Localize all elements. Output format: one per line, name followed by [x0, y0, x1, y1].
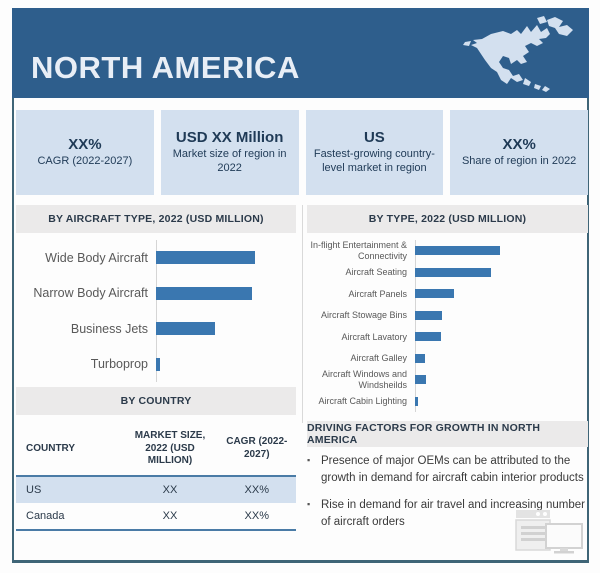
chart-bar-track	[415, 326, 588, 348]
chart-bar	[156, 358, 160, 371]
chart-bar	[415, 375, 426, 384]
chart-bar	[156, 322, 215, 335]
stat-value: XX%	[68, 136, 101, 153]
table-row: US XX XX%	[16, 476, 296, 503]
left-accent-rail	[12, 98, 14, 560]
chart-bar	[415, 332, 441, 341]
chart-by-type: In-flight Entertainment & Connectivity A…	[307, 240, 588, 412]
chart-bar-track	[415, 369, 588, 391]
chart-bar-track	[156, 311, 296, 347]
chart-category-label: Wide Body Aircraft	[16, 251, 156, 265]
section-header-driving-factors: DRIVING FACTORS FOR GROWTH IN NORTH AMER…	[307, 421, 588, 447]
chart-bar-track	[415, 305, 588, 327]
chart-row: In-flight Entertainment & Connectivity	[307, 240, 588, 262]
chart-category-label: Aircraft Galley	[307, 353, 415, 363]
chart-bar	[415, 397, 418, 406]
stat-value: US	[364, 129, 385, 146]
chart-row: Aircraft Cabin Lighting	[307, 391, 588, 413]
stat-value: USD XX Million	[176, 129, 284, 146]
chart-rows: Wide Body Aircraft Narrow Body Aircraft …	[16, 240, 296, 382]
cell-cagr: XX%	[218, 503, 296, 530]
chart-row: Wide Body Aircraft	[16, 240, 296, 276]
list-item: ▪ Presence of major OEMs can be attribut…	[307, 453, 588, 486]
chart-bar-track	[156, 240, 296, 276]
stat-label: CAGR (2022-2027)	[37, 155, 132, 169]
chart-category-label: Business Jets	[16, 322, 156, 336]
region-header: NORTH AMERICA	[12, 8, 589, 98]
chart-category-label: In-flight Entertainment & Connectivity	[307, 240, 415, 261]
monitor-window-icon	[512, 508, 588, 556]
chart-row: Narrow Body Aircraft	[16, 276, 296, 312]
chart-row: Business Jets	[16, 311, 296, 347]
chart-row: Turboprop	[16, 347, 296, 383]
chart-row: Aircraft Galley	[307, 348, 588, 370]
chart-row: Aircraft Lavatory	[307, 326, 588, 348]
column-header-country: COUNTRY	[16, 423, 122, 476]
cell-country: US	[16, 476, 122, 503]
section-header-by-type: BY TYPE, 2022 (USD MILLION)	[307, 205, 588, 233]
chart-category-label: Aircraft Cabin Lighting	[307, 396, 415, 406]
chart-bar	[415, 246, 500, 255]
chart-row: Aircraft Panels	[307, 283, 588, 305]
cell-market-size: XX	[122, 503, 217, 530]
stat-label: Share of region in 2022	[462, 155, 576, 169]
chart-bar-track	[415, 262, 588, 284]
column-divider	[302, 205, 303, 423]
chart-bar-track	[415, 391, 588, 413]
section-header-by-aircraft-type: BY AIRCRAFT TYPE, 2022 (USD MILLION)	[16, 205, 296, 233]
stat-card-share: XX% Share of region in 2022	[450, 110, 588, 195]
chart-category-label: Aircraft Panels	[307, 289, 415, 299]
chart-row: Aircraft Seating	[307, 262, 588, 284]
chart-category-label: Aircraft Stowage Bins	[307, 310, 415, 320]
chart-by-aircraft-type: Wide Body Aircraft Narrow Body Aircraft …	[16, 240, 296, 382]
stat-label: Market size of region in 2022	[167, 148, 293, 176]
chart-row: Aircraft Stowage Bins	[307, 305, 588, 327]
chart-bar	[156, 251, 255, 264]
chart-bar-track	[415, 348, 588, 370]
page-title: NORTH AMERICA	[31, 52, 300, 83]
chart-rows: In-flight Entertainment & Connectivity A…	[307, 240, 588, 412]
infographic-page: NORTH AMERICA XX% CAGR (2022-2027) USD	[0, 0, 600, 573]
stat-cards: XX% CAGR (2022-2027) USD XX Million Mark…	[16, 110, 588, 195]
chart-bar	[415, 289, 454, 298]
stat-card-cagr: XX% CAGR (2022-2027)	[16, 110, 154, 195]
chart-category-label: Aircraft Windows and Windsheilds	[307, 369, 415, 390]
chart-category-label: Turboprop	[16, 357, 156, 371]
stat-label: Fastest-growing country-level market in …	[312, 148, 438, 176]
chart-bar-track	[415, 240, 588, 262]
chart-category-label: Aircraft Lavatory	[307, 332, 415, 342]
table-row: Canada XX XX%	[16, 503, 296, 530]
chart-bar	[415, 268, 491, 277]
column-header-market-size: MARKET SIZE, 2022 (USD MILLION)	[122, 423, 217, 476]
cell-market-size: XX	[122, 476, 217, 503]
stat-value: XX%	[502, 136, 535, 153]
chart-bar	[156, 287, 252, 300]
bullet-icon: ▪	[307, 453, 321, 486]
chart-bar	[415, 354, 425, 363]
column-header-cagr: CAGR (2022-2027)	[218, 423, 296, 476]
country-table: COUNTRY MARKET SIZE, 2022 (USD MILLION) …	[16, 423, 296, 531]
list-item-text: Presence of major OEMs can be attributed…	[321, 453, 588, 486]
bottom-accent-rail	[12, 560, 589, 563]
table-header-row: COUNTRY MARKET SIZE, 2022 (USD MILLION) …	[16, 423, 296, 476]
chart-bar	[415, 311, 442, 320]
cell-cagr: XX%	[218, 476, 296, 503]
stat-card-market-size: USD XX Million Market size of region in …	[161, 110, 299, 195]
stat-card-fastest-growing: US Fastest-growing country-level market …	[306, 110, 444, 195]
cell-country: Canada	[16, 503, 122, 530]
chart-bar-track	[156, 276, 296, 312]
bullet-icon: ▪	[307, 497, 321, 530]
chart-category-label: Narrow Body Aircraft	[16, 286, 156, 300]
north-america-map-icon	[451, 12, 581, 98]
section-header-by-country: BY COUNTRY	[16, 387, 296, 415]
chart-bar-track	[156, 347, 296, 383]
chart-row: Aircraft Windows and Windsheilds	[307, 369, 588, 391]
chart-category-label: Aircraft Seating	[307, 267, 415, 277]
chart-bar-track	[415, 283, 588, 305]
